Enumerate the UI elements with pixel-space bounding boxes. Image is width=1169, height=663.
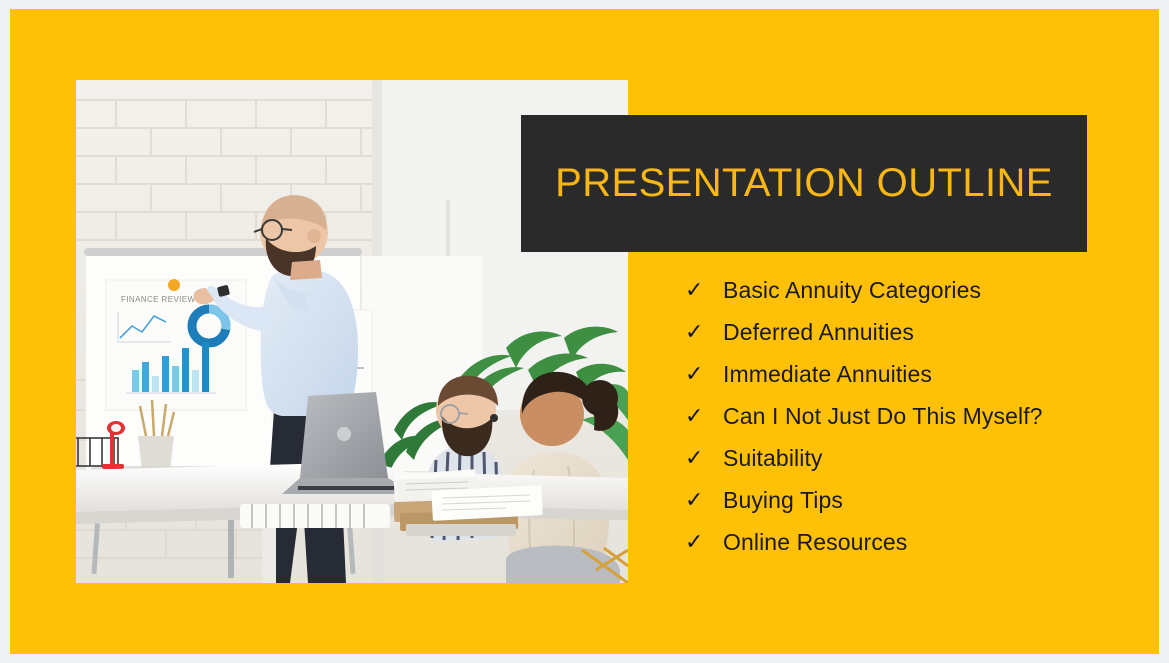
list-item: ✓ Online Resources <box>685 523 1115 562</box>
page-title: PRESENTATION OUTLINE <box>555 161 1053 206</box>
check-icon: ✓ <box>685 481 723 520</box>
check-icon: ✓ <box>685 271 723 310</box>
check-icon: ✓ <box>685 313 723 352</box>
list-item: ✓ Suitability <box>685 439 1115 478</box>
list-item-label: Basic Annuity Categories <box>723 271 981 310</box>
list-item: ✓ Can I Not Just Do This Myself? <box>685 397 1115 436</box>
check-icon: ✓ <box>685 439 723 478</box>
list-item-label: Can I Not Just Do This Myself? <box>723 397 1043 436</box>
list-item: ✓ Basic Annuity Categories <box>685 271 1115 310</box>
slide-frame: FINANCE REVIEW <box>0 0 1169 663</box>
list-item: ✓ Deferred Annuities <box>685 313 1115 352</box>
svg-text:FINANCE REVIEW: FINANCE REVIEW <box>121 295 196 304</box>
list-item-label: Deferred Annuities <box>723 313 914 352</box>
presentation-slide: FINANCE REVIEW <box>10 9 1159 654</box>
outline-list: ✓ Basic Annuity Categories ✓ Deferred An… <box>685 271 1115 565</box>
list-item-label: Buying Tips <box>723 481 843 520</box>
check-icon: ✓ <box>685 355 723 394</box>
check-icon: ✓ <box>685 523 723 562</box>
check-icon: ✓ <box>685 397 723 436</box>
list-item-label: Online Resources <box>723 523 907 562</box>
list-item: ✓ Immediate Annuities <box>685 355 1115 394</box>
list-item: ✓ Buying Tips <box>685 481 1115 520</box>
list-item-label: Suitability <box>723 439 823 478</box>
list-item-label: Immediate Annuities <box>723 355 932 394</box>
title-box: PRESENTATION OUTLINE <box>521 115 1087 252</box>
